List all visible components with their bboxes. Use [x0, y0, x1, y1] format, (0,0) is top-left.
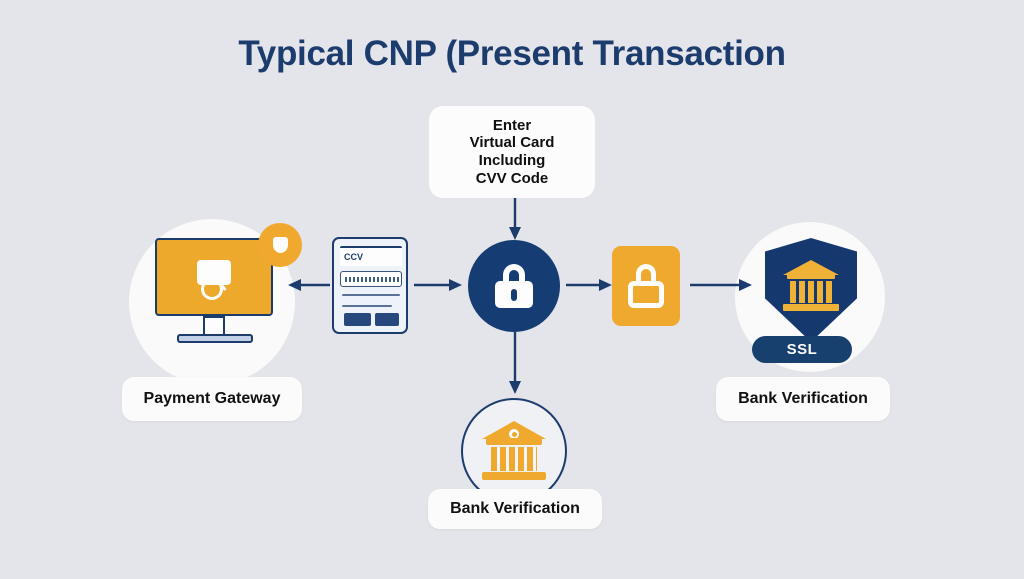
card-input-field	[340, 271, 402, 287]
callout-line-2: Virtual Card	[470, 134, 555, 152]
diagram-canvas: Typical CNP (Present Transaction Enter V…	[0, 0, 1024, 579]
arrow-card-to-gateway	[288, 272, 330, 298]
label-payment-gateway: Payment Gateway	[122, 377, 302, 421]
callout-line-1: Enter	[493, 117, 531, 135]
card-button-left	[344, 313, 371, 326]
bank-architrave	[787, 274, 835, 279]
padlock-glyph	[495, 264, 533, 308]
bank-bottom-pediment-center	[512, 432, 517, 437]
shield-badge-inner	[273, 237, 288, 253]
bank-bottom-columns	[491, 447, 537, 471]
callout-line-4: CVV Code	[476, 170, 549, 188]
bank-glyph	[783, 260, 839, 312]
label-bank-verification-right: Bank Verification	[716, 377, 890, 421]
arrow-lock-to-ssl-lock	[566, 272, 612, 298]
ssl-badge-text: SSL	[787, 341, 818, 358]
label-bank-verification-right-text: Bank Verification	[738, 390, 868, 408]
callout-enter-virtual-card: Enter Virtual Card Including CVV Code	[429, 106, 595, 198]
label-bank-verification-bottom-text: Bank Verification	[450, 500, 580, 518]
bank-floor	[783, 304, 839, 311]
bank-bottom-architrave	[486, 438, 542, 445]
monitor-icon	[155, 238, 280, 350]
arrow-lock-to-bank-bottom	[500, 332, 530, 396]
monitor-base	[177, 334, 253, 343]
callout-line-3: Including	[479, 152, 546, 170]
credit-card-form-icon: CCV	[332, 237, 408, 334]
padlock-keyhole	[511, 289, 517, 301]
arrow-callout-to-lock	[500, 198, 530, 242]
ssl-badge: SSL	[752, 336, 852, 363]
arrow-ssl-lock-to-bank	[690, 272, 752, 298]
card-button-right	[375, 313, 399, 326]
shield-badge-icon	[258, 223, 302, 267]
bank-roof	[783, 260, 839, 275]
arrow-card-to-lock	[414, 272, 462, 298]
monitor-screen	[155, 238, 273, 316]
padlock-outline-icon	[612, 246, 680, 326]
padlock-outline-body	[628, 281, 664, 308]
padlock-outline-glyph	[628, 264, 664, 308]
label-payment-gateway-text: Payment Gateway	[144, 390, 281, 408]
card-cvv-label: CCV	[340, 246, 402, 266]
label-bank-verification-bottom: Bank Verification	[428, 489, 602, 529]
bank-bottom-floor	[482, 472, 546, 480]
bank-bottom-glyph	[482, 421, 546, 481]
bank-columns	[790, 281, 832, 303]
monitor-neck	[203, 316, 225, 336]
page-title: Typical CNP (Present Transaction	[0, 34, 1024, 74]
card-line-1	[342, 294, 400, 296]
card-line-2	[342, 305, 392, 307]
shield-bank-icon	[765, 238, 857, 342]
card-input-dots	[345, 277, 399, 282]
padlock-icon	[468, 240, 560, 332]
